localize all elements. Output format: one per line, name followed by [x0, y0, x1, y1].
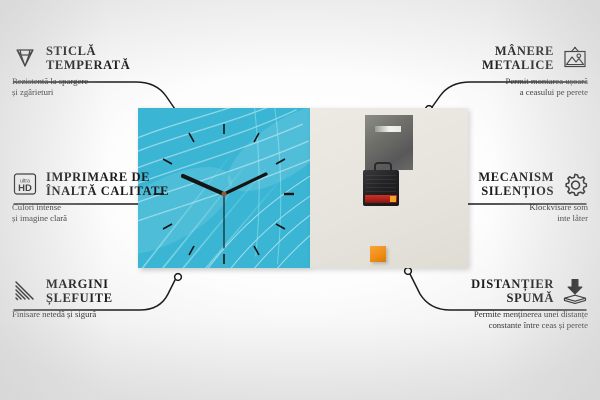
clock-hand-minute	[224, 174, 266, 194]
diamond-icon	[12, 45, 38, 71]
mechanism-ridges	[366, 175, 396, 192]
callout-title: STICLĂ TEMPERATĂ	[46, 44, 130, 72]
callout-title: MÂNERE METALICE	[482, 44, 554, 72]
callout-subtitle: Finisare netedă și sigură	[12, 309, 192, 320]
battery	[365, 195, 397, 203]
callout-margini-slefuite: MARGINI ȘLEFUITE Finisare netedă și sigu…	[12, 277, 192, 320]
polished-edges-icon	[12, 278, 38, 304]
quartz-mechanism	[363, 168, 399, 206]
callout-sticla-temperata: STICLĂ TEMPERATĂ Rezistentă la spargere …	[12, 44, 192, 98]
clock-center-cap	[221, 191, 226, 196]
callout-manere-metalice: MÂNERE METALICE Permit montarea ușoară a…	[408, 44, 588, 98]
callout-subtitle: Klockvisare som inte låter	[408, 202, 588, 224]
callout-mecanism-silentios: MECANISM SILENȚIOS Klockvisare som inte …	[408, 170, 588, 224]
svg-text:HD: HD	[18, 183, 32, 194]
hanger-slot	[375, 126, 401, 132]
picture-hanger-icon	[562, 45, 588, 71]
callout-subtitle: Permit montarea ușoară a ceasului pe per…	[408, 76, 588, 98]
gear-icon	[562, 171, 588, 197]
callout-distantier-spuma: DISTANȚIER SPUMĂ Permite menținerea unei…	[398, 277, 588, 331]
callout-title: MARGINI ȘLEFUITE	[46, 277, 113, 305]
callout-subtitle: Permite menținerea unei distanțe constan…	[398, 309, 588, 331]
mechanism-body	[363, 170, 399, 206]
endpoint-distantier	[405, 268, 412, 275]
infographic-canvas: STICLĂ TEMPERATĂ Rezistentă la spargere …	[0, 0, 600, 400]
callout-imprimare-calitate: ultra HD IMPRIMARE DE ÎNALTĂ CALITATE Cu…	[12, 170, 192, 224]
callout-subtitle: Rezistentă la spargere și zgârieturi	[12, 76, 192, 98]
callout-title: DISTANȚIER SPUMĂ	[471, 277, 554, 305]
foam-spacer	[370, 246, 386, 262]
callout-title: IMPRIMARE DE ÎNALTĂ CALITATE	[46, 170, 169, 198]
callout-subtitle: Culori intense și imagine clară	[12, 202, 192, 224]
callout-title: MECANISM SILENȚIOS	[478, 170, 554, 198]
ultra-hd-icon: ultra HD	[12, 171, 38, 197]
foam-spacer-icon	[562, 278, 588, 304]
battery-plus-terminal	[390, 196, 396, 202]
